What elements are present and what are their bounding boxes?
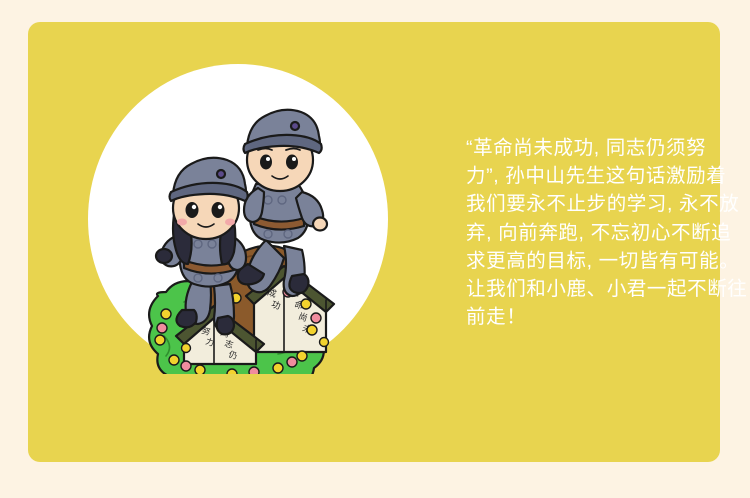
quote-text-block: “革命尚未成功, 同志仍须努 力”, 孙中山先生这句话激励着 我们要永不止步的学… xyxy=(466,134,750,331)
illustration-container: 革 命 尚 未 成 功 xyxy=(88,64,388,374)
illustration-artwork: 革 命 尚 未 成 功 xyxy=(88,64,388,374)
page-root: 革 命 尚 未 成 功 xyxy=(0,0,750,498)
quote-line: 弃, 向前奔跑, 不忘初心不断追 xyxy=(466,219,750,247)
quote-line: 前走！ xyxy=(466,303,750,331)
girl-hand-icon xyxy=(156,249,172,263)
cap-star-icon xyxy=(291,122,299,130)
quote-line: 力”, 孙中山先生这句话激励着 xyxy=(466,162,750,190)
quote-line: “革命尚未成功, 同志仍须努 xyxy=(466,134,750,162)
quote-line: 求更高的目标, 一切皆有可能。 xyxy=(466,247,750,275)
quote-line: 我们要永不止步的学习, 永不放 xyxy=(466,190,750,218)
quote-line: 让我们和小鹿、小君一起不断往 xyxy=(466,275,750,303)
yellow-card-panel: 革 命 尚 未 成 功 xyxy=(28,22,720,462)
cap-star-icon xyxy=(217,170,225,178)
